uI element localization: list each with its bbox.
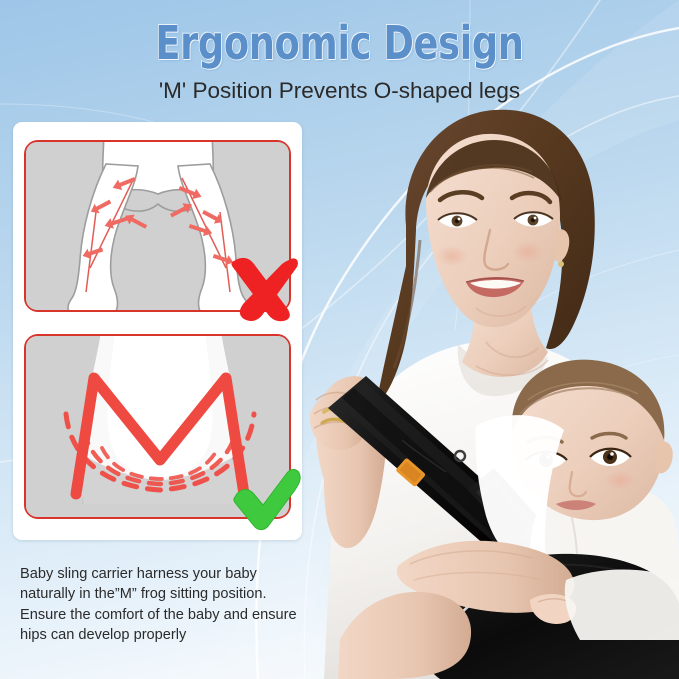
infographic-page: Ergonomic Design 'M' Position Prevents O…	[0, 0, 679, 679]
mother-carrying-baby-photo	[280, 80, 679, 679]
m-position-diagram	[26, 336, 289, 517]
page-title: Ergonomic Design	[68, 0, 611, 69]
o-shaped-legs-diagram	[26, 142, 289, 310]
page-subtitle: 'M' Position Prevents O-shaped legs	[0, 69, 679, 104]
baby-sleeve	[565, 570, 679, 641]
header: Ergonomic Design 'M' Position Prevents O…	[0, 0, 679, 104]
woman-earring	[558, 261, 564, 267]
illustration-card	[13, 122, 302, 540]
caption-text: Baby sling carrier harness your baby nat…	[20, 564, 306, 646]
baby-ear	[655, 441, 673, 473]
m-position-panel	[24, 334, 291, 519]
o-shaped-legs-panel	[24, 140, 291, 312]
